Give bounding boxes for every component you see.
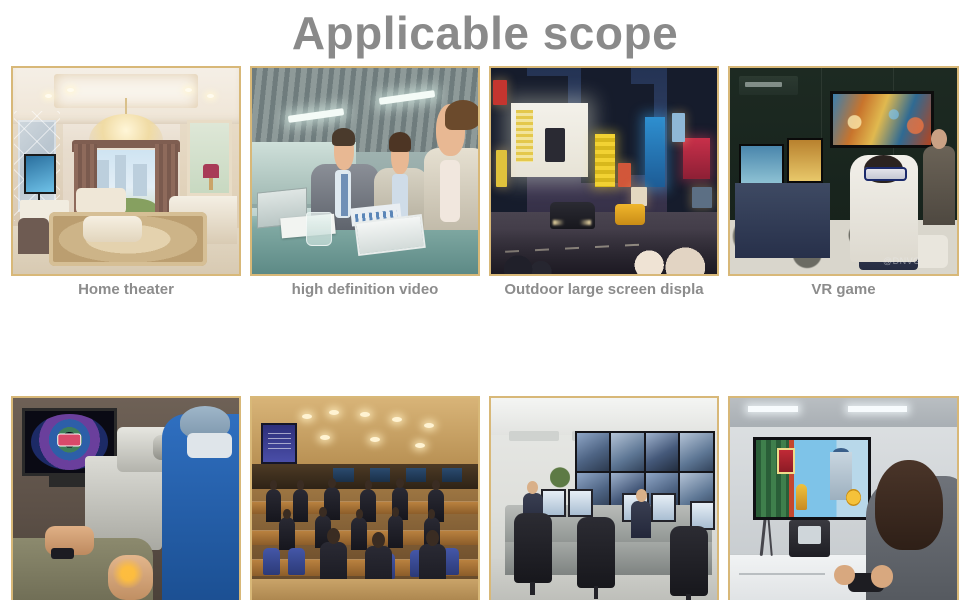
cctv-monitor (611, 433, 644, 471)
photo-conference-hall (252, 398, 478, 600)
tv-stand-shape (789, 520, 830, 557)
surgical-mask-shape (187, 433, 232, 458)
ceiling-spotlight (207, 94, 214, 98)
photo-times-square (491, 68, 717, 274)
ceiling-panel-shape (509, 431, 559, 441)
led-billboard-yellow (595, 134, 615, 188)
ceiling-shape (491, 398, 717, 435)
player-head-shape (875, 460, 943, 551)
photo-frame (250, 66, 480, 276)
scope-cell-outdoor-large-screen[interactable]: Outdoor large screen displa (489, 66, 719, 276)
photo-vr-booth: @DNVG (730, 68, 957, 274)
water-glass-shape (306, 212, 332, 246)
attendee-shape (351, 517, 367, 550)
office-chair-shape (670, 526, 708, 596)
scope-cell-vr-game[interactable]: @DNVG VR game (728, 66, 959, 276)
cctv-monitor (646, 433, 679, 471)
top-shape (440, 160, 460, 222)
cctv-monitor (577, 433, 610, 471)
hair-shape (389, 132, 411, 152)
necktie-shape (341, 174, 348, 216)
interpreter-booth-shape (370, 468, 390, 482)
photo-business-meeting (252, 68, 478, 274)
attendee-shape (279, 517, 295, 550)
game-banner-shape (777, 448, 795, 474)
ceiling-tube-light (748, 406, 798, 412)
player-hand-shape (871, 565, 894, 588)
projection-screen-shape (261, 423, 297, 464)
crowd-shape (491, 229, 717, 274)
cable-shape (767, 515, 773, 556)
photo-control-room (491, 398, 717, 600)
floor-shape (252, 579, 478, 600)
scope-cell-medical-imaging[interactable]: large medical imaging system (11, 396, 241, 600)
ceiling-shape (730, 398, 957, 427)
led-sign-small (672, 113, 686, 142)
applicable-scope-page: Applicable scope (0, 0, 970, 600)
window-building-shape (133, 164, 147, 197)
plant-shape (550, 460, 570, 489)
sofa-back-shape (76, 188, 126, 214)
attendee-shape (324, 487, 340, 520)
scope-cell-ps4-game[interactable]: PS4 game (728, 396, 959, 600)
scope-cell-high-definition-video[interactable]: high definition video (250, 66, 480, 276)
scope-cell-broadcast-television[interactable]: broadcast and television system (250, 396, 480, 600)
game-screen-content (756, 440, 868, 516)
grid-row-bottom: large medical imaging system (0, 396, 970, 600)
led-sign-small (618, 163, 632, 188)
game-character-shape (796, 484, 807, 510)
wall-display-shape (830, 91, 934, 149)
cell-caption: high definition video (250, 280, 480, 299)
desk-monitor-shape (568, 489, 593, 518)
led-sign-small (496, 150, 507, 187)
photo-home-theater (13, 68, 239, 274)
cell-caption: Outdoor large screen displa (489, 280, 719, 299)
draped-table-shape (735, 183, 830, 257)
armchair-shape (18, 218, 50, 254)
table-lamp-shape (203, 164, 219, 178)
attendee-shape (388, 515, 404, 548)
interpreter-booth-shape (442, 468, 462, 482)
scope-grid: Home theater (0, 66, 970, 600)
surgical-light-glow (112, 559, 144, 588)
office-chair-shape (514, 513, 552, 583)
game-coin-shape (846, 489, 861, 506)
photo-frame (11, 396, 241, 600)
television-shape (24, 154, 56, 194)
photo-medical-imaging (13, 398, 239, 600)
led-billboard-blue (645, 117, 665, 187)
cell-caption: Home theater (11, 280, 241, 299)
page-title: Applicable scope (0, 4, 970, 62)
seat-shape (288, 548, 305, 575)
taxi-shape (615, 204, 644, 225)
car-shape (550, 202, 595, 229)
ceiling-light (392, 417, 402, 422)
hair-shape (332, 128, 355, 146)
ceiling-light (424, 423, 434, 428)
grid-row-top: Home theater (0, 66, 970, 336)
ceiling-spotlight (45, 94, 52, 98)
ceiling-light (320, 435, 330, 440)
television-shape (753, 437, 871, 519)
led-billboard-red (683, 138, 710, 179)
person-seated (424, 106, 478, 230)
ceiling-spotlight (185, 88, 192, 92)
attendee-shape (293, 489, 309, 522)
ceiling-light (370, 437, 380, 442)
photo-frame (489, 396, 719, 600)
desk-monitor-shape (651, 493, 676, 522)
interpreter-booth-shape (333, 468, 353, 482)
cctv-monitor (680, 433, 713, 471)
office-chair-shape (577, 517, 615, 587)
bystander-shape (923, 146, 955, 224)
playstation-logo-plate (739, 76, 798, 95)
led-sign-small (493, 80, 507, 105)
ottoman-shape (83, 216, 142, 242)
photo-frame (489, 66, 719, 276)
photo-frame (11, 66, 241, 276)
vr-headset-icon (864, 167, 907, 181)
image-watermark: @DNVG (883, 256, 921, 266)
interpreter-booth-shape (406, 468, 426, 482)
hair-shape (445, 100, 478, 130)
wristwatch-shape (51, 548, 74, 558)
photo-frame (728, 396, 959, 600)
scope-cell-monitoring-system[interactable]: high definition monitoring system (489, 396, 719, 600)
monitor-mount-shape (49, 476, 85, 486)
ceiling-tube-light (848, 406, 907, 412)
scope-cell-home-theater[interactable]: Home theater (11, 66, 241, 276)
attendee-shape (266, 489, 282, 522)
photo-frame (250, 396, 480, 600)
photo-frame: @DNVG (728, 66, 959, 276)
monitor-shape (787, 138, 823, 183)
led-sign-small (692, 187, 712, 208)
operator-shape (631, 501, 651, 538)
cell-caption: VR game (728, 280, 959, 299)
led-billboard-large (511, 103, 588, 177)
seat-shape (263, 548, 280, 575)
attendee-shape (360, 489, 376, 522)
photo-ps4-game (730, 398, 957, 600)
